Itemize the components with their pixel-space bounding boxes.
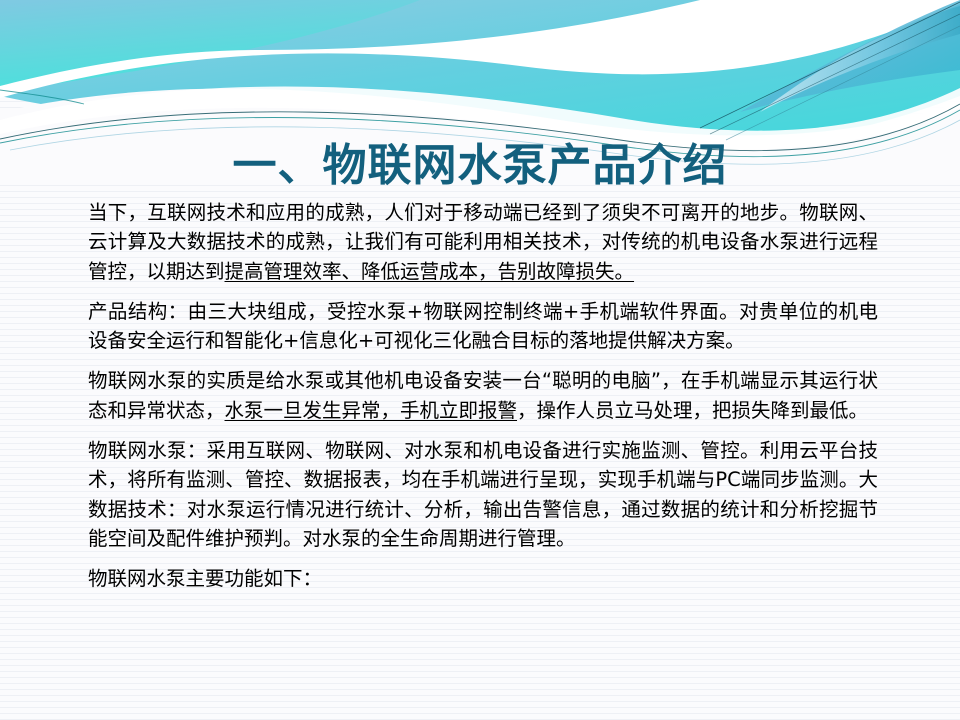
text-run-underlined: 水泵一旦发生异常，手机立即报警 — [225, 399, 518, 422]
text-run: 物联网水泵主要功能如下： — [88, 567, 322, 590]
paragraph-3: 物联网水泵的实质是给水泵或其他机电设备安装一台“聪明的电脑”，在手机端显示其运行… — [88, 366, 878, 425]
presentation-slide: 一、物联网水泵产品介绍 当下，互联网技术和应用的成熟，人们对于移动端已经到了须臾… — [0, 0, 960, 720]
text-run-underlined: 提高管理效率、降低运营成本，告别故障损失。 — [225, 260, 635, 283]
slide-body-text: 当下，互联网技术和应用的成熟，人们对于移动端已经到了须臾不可离开的地步。物联网、… — [88, 198, 878, 594]
text-run: 物联网水泵：采用互联网、物联网、对水泵和机电设备进行实施监测、管控。利用云平台技… — [88, 439, 878, 550]
paragraph-4: 物联网水泵：采用互联网、物联网、对水泵和机电设备进行实施监测、管控。利用云平台技… — [88, 436, 878, 553]
paragraph-2: 产品结构：由三大块组成，受控水泵+物联网控制终端+手机端软件界面。对贵单位的机电… — [88, 297, 878, 356]
text-run: ，操作人员立马处理，把损失降到最低。 — [517, 399, 868, 422]
text-run: 产品结构：由三大块组成，受控水泵+物联网控制终端+手机端软件界面。对贵单位的机电… — [88, 300, 878, 352]
paragraph-5: 物联网水泵主要功能如下： — [88, 564, 878, 593]
page-title: 一、物联网水泵产品介绍 — [0, 137, 960, 195]
paragraph-1: 当下，互联网技术和应用的成熟，人们对于移动端已经到了须臾不可离开的地步。物联网、… — [88, 198, 878, 286]
